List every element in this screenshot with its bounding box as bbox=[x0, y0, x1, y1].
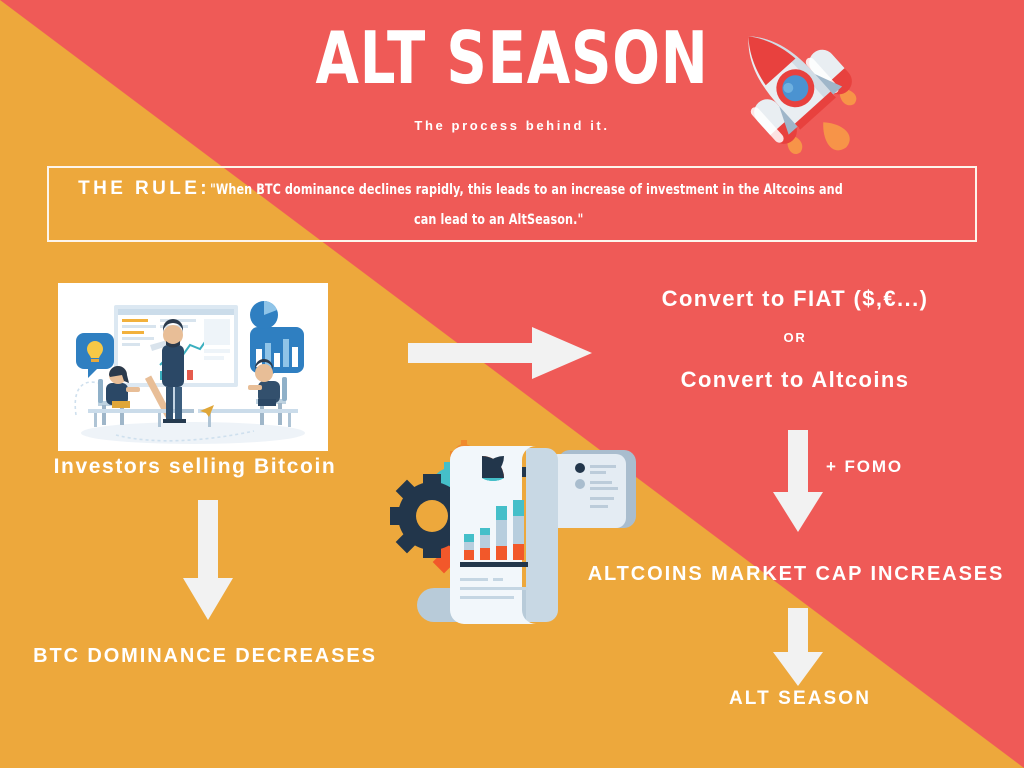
report-gears-illustration bbox=[388, 438, 646, 628]
whiteboard-titlebar bbox=[118, 309, 234, 315]
team-analytics-illustration bbox=[58, 283, 328, 451]
rule-label: THE RULE: bbox=[78, 178, 210, 199]
convert-to-altcoins-label: Convert to Altcoins bbox=[600, 367, 990, 393]
arrow-down-icon bbox=[183, 500, 233, 620]
or-label: OR bbox=[600, 330, 990, 345]
fomo-label: + FOMO bbox=[826, 457, 976, 477]
altcoins-market-cap-increases-label: ALTCOINS MARKET CAP INCREASES bbox=[566, 563, 1024, 586]
pie-chart-top bbox=[250, 301, 278, 329]
btc-dominance-decreases-label: BTC DOMINANCE DECREASES bbox=[0, 645, 410, 668]
header: ALT SEASON The process behind it. bbox=[0, 0, 1024, 155]
desk-left bbox=[88, 409, 166, 413]
rule-quote-line-2: can lead to an AltSeason." bbox=[414, 208, 583, 233]
desk-right-leg-2 bbox=[288, 413, 291, 427]
desk-right bbox=[198, 409, 298, 413]
desk-left-leg bbox=[94, 413, 97, 427]
floor-shadow bbox=[81, 422, 305, 444]
arrow-down-icon bbox=[773, 430, 823, 532]
alt-season-label: ALT SEASON bbox=[660, 688, 940, 710]
rule-quote-line-1: "When BTC dominance declines rapidly, th… bbox=[210, 178, 843, 203]
rocket-icon bbox=[716, 14, 876, 164]
convert-to-fiat-label: Convert to FIAT ($,€...) bbox=[600, 286, 990, 312]
desk-left-leg-2 bbox=[158, 413, 161, 427]
arrow-down-icon bbox=[773, 608, 823, 686]
investors-selling-bitcoin-label: Investors selling Bitcoin bbox=[40, 455, 350, 479]
arrow-right-icon bbox=[408, 327, 592, 379]
report-back-card bbox=[548, 450, 636, 528]
rocket-flame-main bbox=[815, 115, 854, 155]
rule-text-block: THE RULE:"When BTC dominance declines ra… bbox=[78, 172, 946, 233]
rule-box: THE RULE:"When BTC dominance declines ra… bbox=[47, 166, 977, 242]
